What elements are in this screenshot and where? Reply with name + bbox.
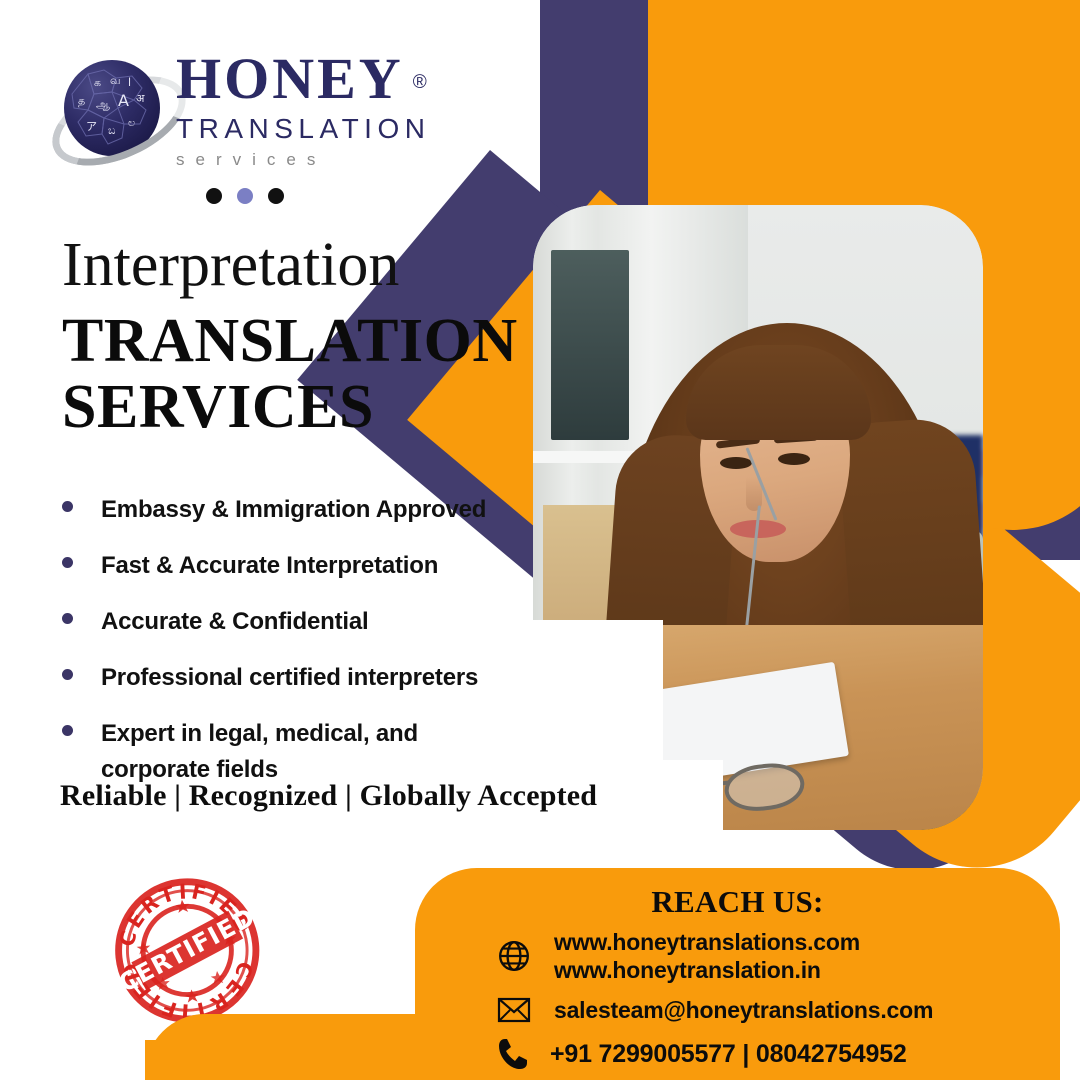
svg-text:க: க <box>94 76 101 89</box>
brand-logo[interactable]: க வ ا த ஆ A अ ア ಬ ಲ HONEY® <box>56 48 456 178</box>
list-item: Accurate & Confidential <box>56 604 556 640</box>
dot-separator <box>206 188 284 204</box>
email-address[interactable]: salesteam@honeytranslations.com <box>554 996 933 1024</box>
certified-stamp-icon: CERTIFIED CERTIFIED CERTIFIED <box>100 864 273 1032</box>
contact-row-phone[interactable]: +91 7299005577 | 08042754952 <box>492 1032 907 1076</box>
list-item: Professional certified interpreters <box>56 660 556 696</box>
contact-heading: REACH US: <box>415 884 1060 920</box>
globe-icon <box>492 934 536 978</box>
phone-icon <box>492 1032 536 1076</box>
poster-canvas: க வ ا த ஆ A अ ア ಬ ಲ HONEY® <box>0 0 1080 1080</box>
list-item: Expert in legal, medical, and corporate … <box>56 716 556 788</box>
tagline: Reliable | Recognized | Globally Accepte… <box>60 779 597 813</box>
logo-brand-name: HONEY <box>176 46 404 111</box>
bullet-icon <box>62 725 73 736</box>
bullet-icon <box>62 501 73 512</box>
registered-mark-icon: ® <box>413 52 430 114</box>
headline-main-1: TRANSLATION <box>62 308 532 374</box>
list-item-label: Accurate & Confidential <box>101 604 368 640</box>
website-line-2[interactable]: www.honeytranslation.in <box>554 956 860 984</box>
website-line-1[interactable]: www.honeytranslations.com <box>554 928 860 956</box>
contact-row-website[interactable]: www.honeytranslations.com www.honeytrans… <box>492 928 860 984</box>
bullet-icon <box>62 613 73 624</box>
envelope-icon <box>492 988 536 1032</box>
language-globe-icon: க வ ا த ஆ A अ ア ಬ ಲ <box>56 54 168 166</box>
logo-line-services: services <box>176 148 466 172</box>
list-item-label: Fast & Accurate Interpretation <box>101 548 438 584</box>
dot-1 <box>206 188 222 204</box>
bullet-icon <box>62 669 73 680</box>
headline-script: Interpretation <box>62 234 532 296</box>
list-item-label: Professional certified interpreters <box>101 660 478 696</box>
list-item-label: Expert in legal, medical, and corporate … <box>101 716 471 788</box>
list-item-label: Embassy & Immigration Approved <box>101 492 486 528</box>
dot-3 <box>268 188 284 204</box>
headline-block: Interpretation TRANSLATION SERVICES <box>62 234 532 440</box>
headline-main-2: SERVICES <box>62 374 532 440</box>
logo-line-translation: TRANSLATION <box>176 112 466 146</box>
list-item: Fast & Accurate Interpretation <box>56 548 556 584</box>
feature-list: Embassy & Immigration Approved Fast & Ac… <box>56 492 556 808</box>
contact-row-email[interactable]: salesteam@honeytranslations.com <box>492 988 933 1032</box>
list-item: Embassy & Immigration Approved <box>56 492 556 528</box>
phone-numbers[interactable]: +91 7299005577 | 08042754952 <box>550 1040 907 1068</box>
bullet-icon <box>62 557 73 568</box>
dot-2 <box>237 188 253 204</box>
